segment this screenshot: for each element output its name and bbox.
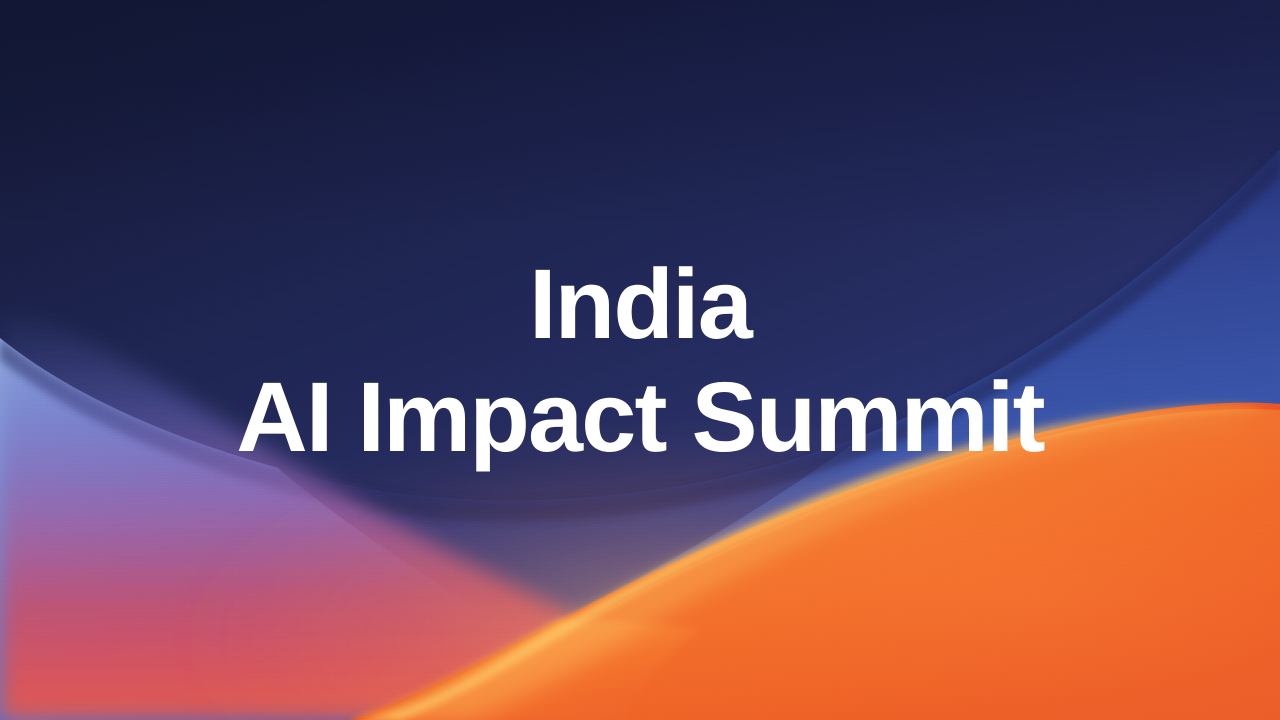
title-card: India AI Impact Summit	[0, 0, 1280, 720]
background-artwork	[0, 0, 1280, 720]
top-vignette	[0, 0, 1280, 230]
